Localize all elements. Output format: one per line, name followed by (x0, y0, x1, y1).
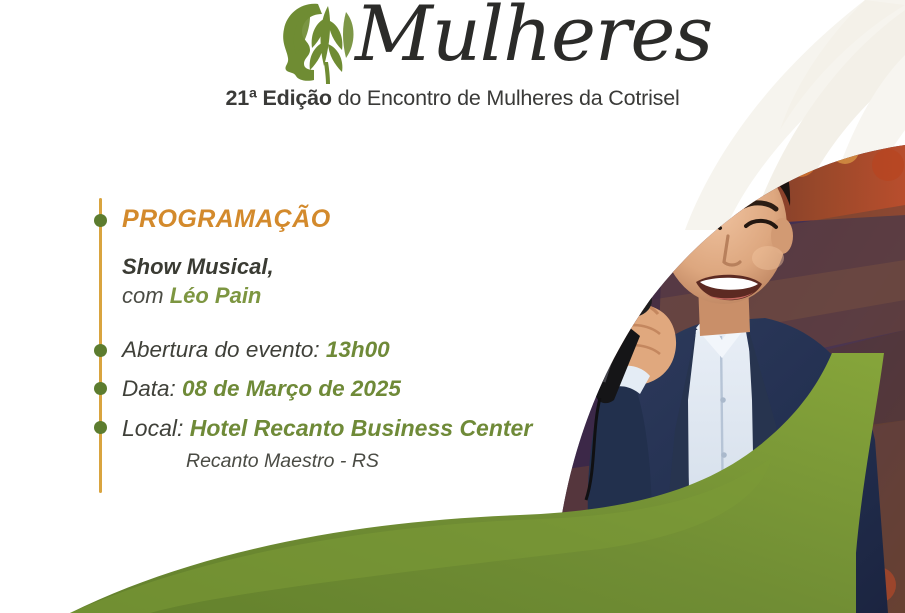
artist-prefix: com (122, 283, 170, 308)
info-row-abertura: Abertura do evento: 13h00 (122, 337, 390, 363)
event-poster: Mulheres 21ª Edição do Encontro de Mulhe… (0, 0, 905, 613)
woman-profile-leaf-logo-icon (272, 0, 368, 84)
artist-name: Léo Pain (170, 283, 262, 308)
poster-subtitle: 21ª Edição do Encontro de Mulheres da Co… (0, 86, 905, 111)
program-heading: PROGRAMAÇÃO (122, 205, 331, 234)
info-label-abertura: Abertura do evento: (122, 337, 326, 362)
info-value-local: Hotel Recanto Business Center (190, 415, 533, 441)
timeline-dot-programacao (94, 214, 107, 227)
timeline-dot-abertura (94, 344, 107, 357)
page-title: Mulheres (355, 0, 712, 72)
info-value-abertura: 13h00 (326, 337, 390, 362)
info-row-local: Local: Hotel Recanto Business Center (122, 415, 532, 442)
poster-header: Mulheres 21ª Edição do Encontro de Mulhe… (0, 0, 905, 88)
info-row-data: Data: 08 de Março de 2025 (122, 376, 401, 402)
venue-city: Recanto Maestro - RS (186, 450, 379, 473)
show-title: Show Musical, (122, 254, 274, 280)
timeline-dot-data (94, 382, 107, 395)
subtitle-edition: 21ª Edição (225, 86, 331, 110)
info-label-data: Data: (122, 376, 182, 401)
subtitle-rest: do Encontro de Mulheres da Cotrisel (332, 86, 680, 110)
artist-line: com Léo Pain (122, 283, 261, 309)
info-value-data: 08 de Março de 2025 (182, 376, 401, 401)
timeline-dot-local (94, 421, 107, 434)
info-label-local: Local: (122, 415, 190, 441)
